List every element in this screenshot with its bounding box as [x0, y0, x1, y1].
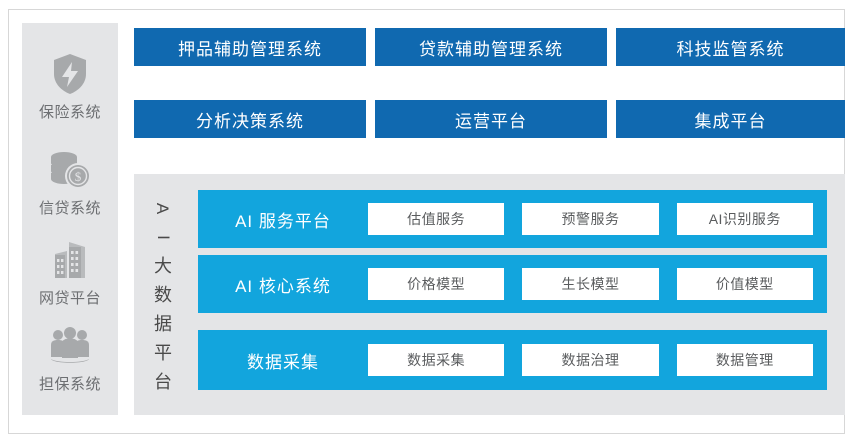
vertical-char: A	[149, 202, 178, 213]
people-group-icon	[22, 321, 118, 371]
chip-valuation-service[interactable]: 估值服务	[368, 203, 504, 235]
sidebar-item-label: 保险系统	[22, 101, 118, 122]
chip-price-model[interactable]: 价格模型	[368, 268, 504, 300]
sidebar: 保险系统 $ 信贷系统	[22, 23, 118, 415]
platform-row-title: AI 核心系统	[198, 272, 368, 297]
banner-label: 分析决策系统	[196, 107, 304, 132]
sidebar-item-label: 信贷系统	[22, 197, 118, 218]
sidebar-item-credit[interactable]: $ 信贷系统	[22, 145, 118, 218]
architecture-diagram: 保险系统 $ 信贷系统	[0, 0, 857, 444]
chip-data-governance[interactable]: 数据治理	[522, 344, 658, 376]
vertical-char: 大	[154, 252, 172, 281]
chip-data-collection[interactable]: 数据采集	[368, 344, 504, 376]
banner-label: 贷款辅助管理系统	[419, 35, 563, 60]
vertical-char: 平	[154, 339, 172, 368]
sidebar-item-label: 担保系统	[22, 373, 118, 394]
chip-alert-service[interactable]: 预警服务	[522, 203, 658, 235]
banner-label: 集成平台	[695, 107, 767, 132]
sidebar-item-insurance[interactable]: 保险系统	[22, 49, 118, 122]
chip-group: 数据采集 数据治理 数据管理	[368, 344, 827, 376]
ai-bigdata-platform-panel: A I 大 数 据 平 台 AI 服务平台 估值服务 预警服务 AI识别服务 A…	[134, 174, 845, 415]
banner-loan-aux-mgmt[interactable]: 贷款辅助管理系统	[375, 28, 607, 66]
sidebar-item-online-loan[interactable]: 网贷平台	[22, 235, 118, 308]
banner-label: 科技监管系统	[677, 35, 785, 60]
vertical-char: 据	[154, 310, 172, 339]
chip-data-management[interactable]: 数据管理	[677, 344, 813, 376]
platform-row-title: AI 服务平台	[198, 207, 368, 232]
chip-group: 价格模型 生长模型 价值模型	[368, 268, 827, 300]
banner-operations-platform[interactable]: 运营平台	[375, 100, 607, 138]
sidebar-item-label: 网贷平台	[22, 287, 118, 308]
banner-integration-platform[interactable]: 集成平台	[616, 100, 845, 138]
vertical-char: 数	[154, 281, 172, 310]
chip-value-model[interactable]: 价值模型	[677, 268, 813, 300]
shield-bolt-icon	[22, 49, 118, 99]
svg-text:$: $	[75, 169, 82, 184]
coins-dollar-icon: $	[22, 145, 118, 195]
buildings-icon	[22, 235, 118, 285]
banner-label: 押品辅助管理系统	[178, 35, 322, 60]
vertical-char: I	[148, 235, 177, 240]
sidebar-item-guarantee[interactable]: 担保系统	[22, 321, 118, 394]
chip-growth-model[interactable]: 生长模型	[522, 268, 658, 300]
banner-tech-supervision[interactable]: 科技监管系统	[616, 28, 845, 66]
platform-vertical-label: A I 大 数 据 平 台	[148, 190, 178, 400]
platform-row-title: 数据采集	[198, 348, 368, 373]
banner-analysis-decision[interactable]: 分析决策系统	[134, 100, 366, 138]
platform-row-data-collection[interactable]: 数据采集 数据采集 数据治理 数据管理	[198, 330, 827, 390]
banner-collateral-aux-mgmt[interactable]: 押品辅助管理系统	[134, 28, 366, 66]
chip-group: 估值服务 预警服务 AI识别服务	[368, 203, 827, 235]
platform-row-service[interactable]: AI 服务平台 估值服务 预警服务 AI识别服务	[198, 190, 827, 248]
vertical-char: 台	[154, 368, 172, 397]
chip-ai-recognition-service[interactable]: AI识别服务	[677, 203, 813, 235]
platform-row-core[interactable]: AI 核心系统 价格模型 生长模型 价值模型	[198, 255, 827, 313]
banner-label: 运营平台	[455, 107, 527, 132]
